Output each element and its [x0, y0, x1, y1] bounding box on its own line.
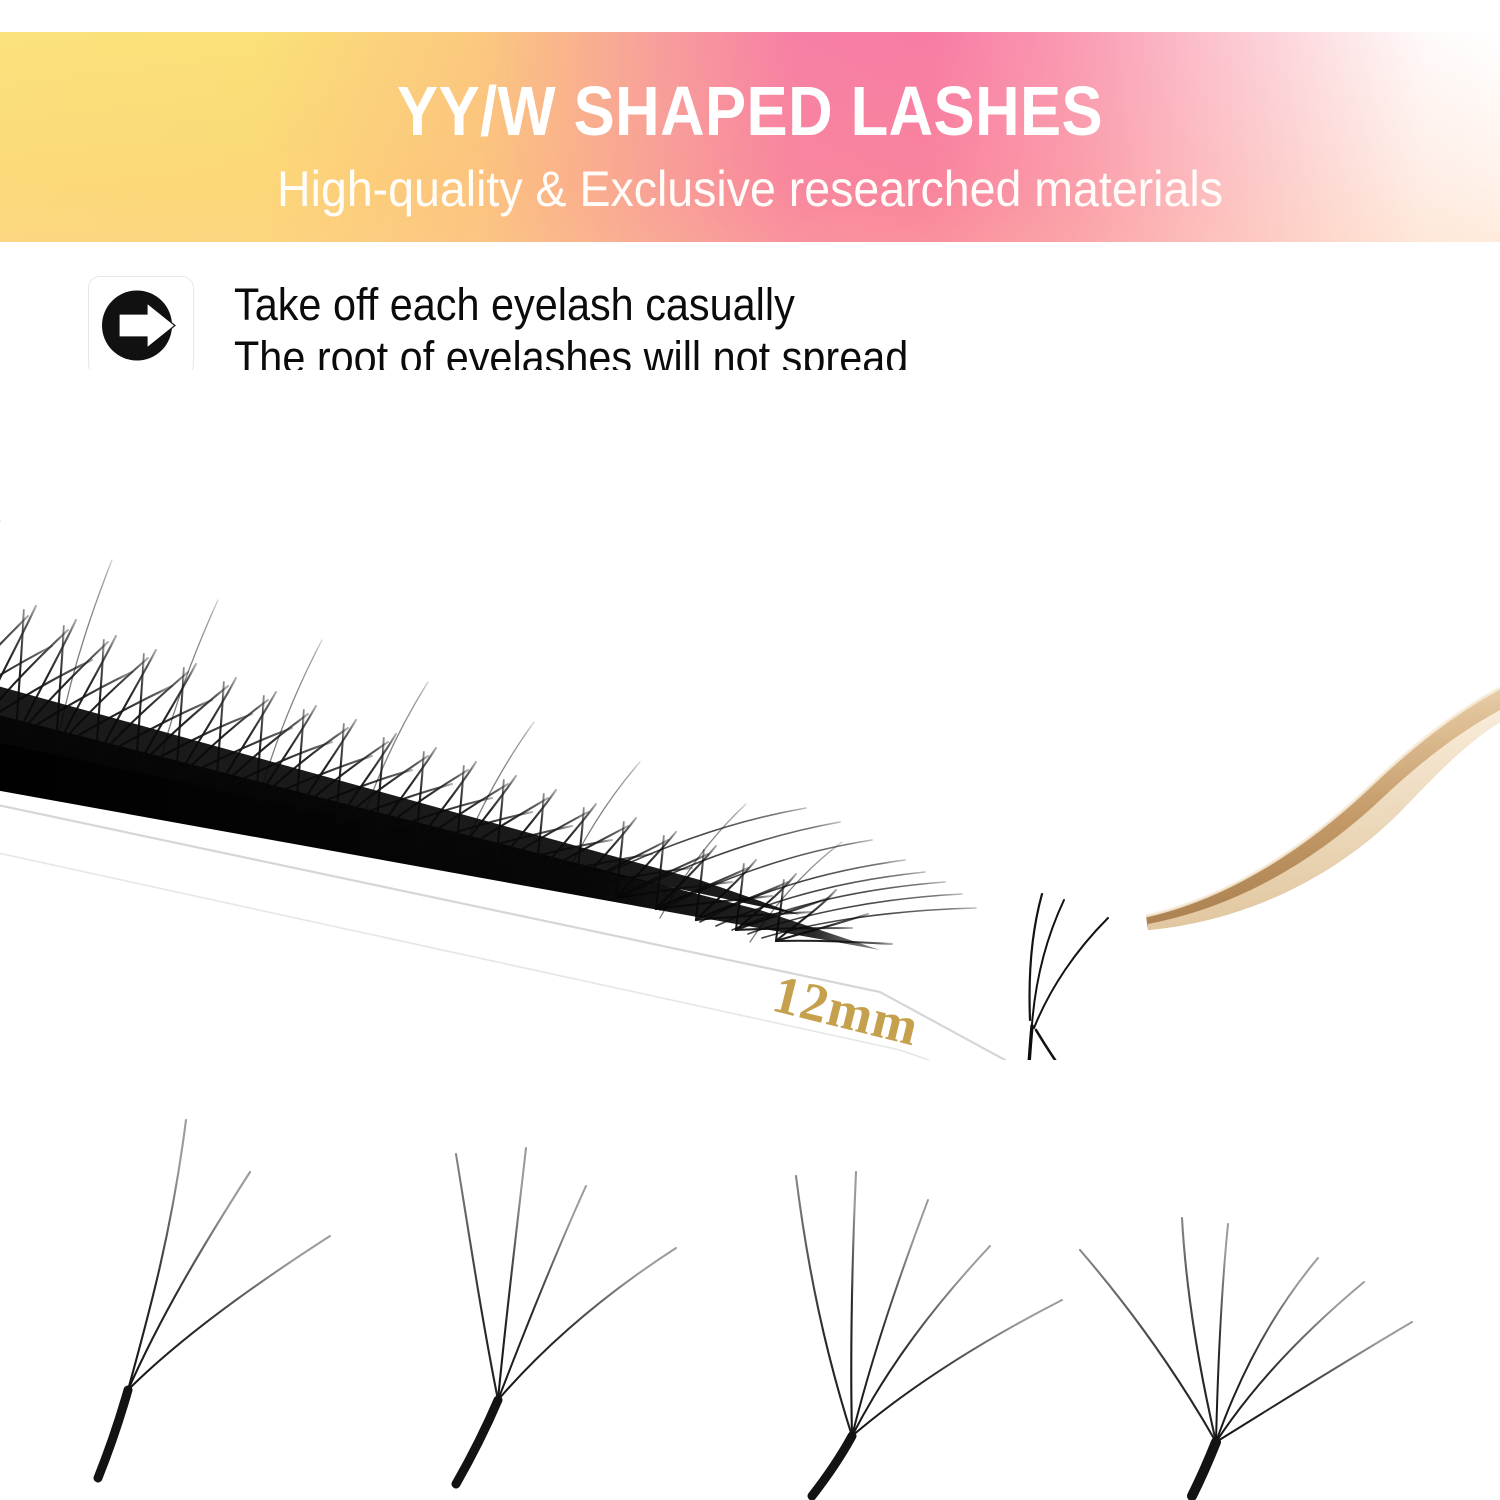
header-banner: YY/W SHAPED LASHES High-quality & Exclus… [0, 32, 1500, 242]
fan-sample-row [0, 1060, 1500, 1500]
page-title: YY/W SHAPED LASHES [90, 76, 1410, 146]
instruction-text-block: Take off each eyelash casually The root … [234, 278, 1134, 384]
product-photo: 12mm [0, 370, 1500, 1160]
fan-samples [0, 1060, 1500, 1500]
page-subtitle: High-quality & Exclusive researched mate… [53, 164, 1448, 214]
lash-strip-photo: 12mm [0, 370, 1500, 1160]
instruction-line-1: Take off each eyelash casually [234, 278, 1062, 331]
arrow-right-circle-icon [89, 277, 192, 374]
product-infographic: YY/W SHAPED LASHES High-quality & Exclus… [0, 0, 1500, 1500]
instruction-icon-frame [88, 276, 194, 376]
